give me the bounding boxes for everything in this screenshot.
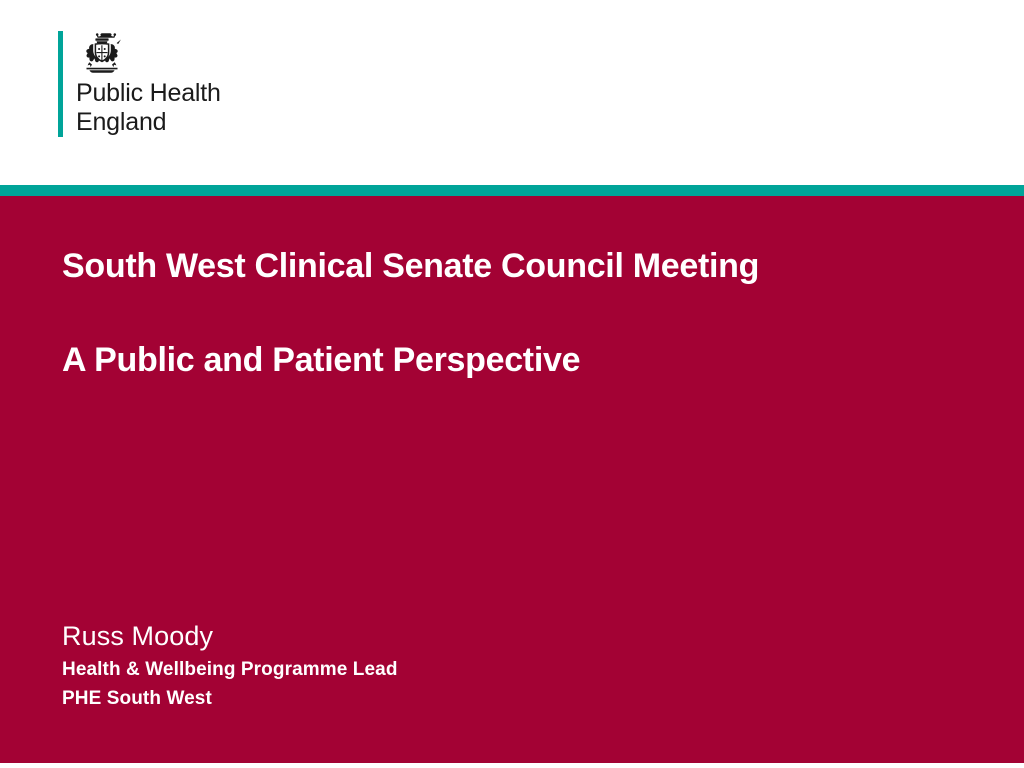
logo-teal-rule — [58, 31, 63, 137]
crimson-content-panel: South West Clinical Senate Council Meeti… — [0, 196, 1024, 763]
presenter-role: Health & Wellbeing Programme Lead — [62, 655, 922, 684]
teal-divider-band — [0, 185, 1024, 196]
logo-wordmark-line2: England — [76, 108, 221, 137]
page-subtitle: A Public and Patient Perspective — [62, 338, 962, 382]
title-slide: Public Health England South West Clinica… — [0, 0, 1024, 768]
logo-body: Public Health England — [76, 31, 221, 137]
presenter-name: Russ Moody — [62, 620, 922, 652]
presenter-organisation: PHE South West — [62, 684, 922, 713]
logo-wordmark-line1: Public Health — [76, 79, 221, 108]
footer-strip — [0, 763, 1024, 768]
royal-coat-of-arms-icon — [76, 31, 128, 75]
public-health-england-logo: Public Health England — [58, 31, 221, 137]
presenter-block: Russ Moody Health & Wellbeing Programme … — [62, 620, 922, 713]
title-block: South West Clinical Senate Council Meeti… — [62, 244, 962, 382]
page-title: South West Clinical Senate Council Meeti… — [62, 244, 962, 288]
logo-wordmark: Public Health England — [76, 79, 221, 137]
slide-header: Public Health England — [0, 0, 1024, 185]
